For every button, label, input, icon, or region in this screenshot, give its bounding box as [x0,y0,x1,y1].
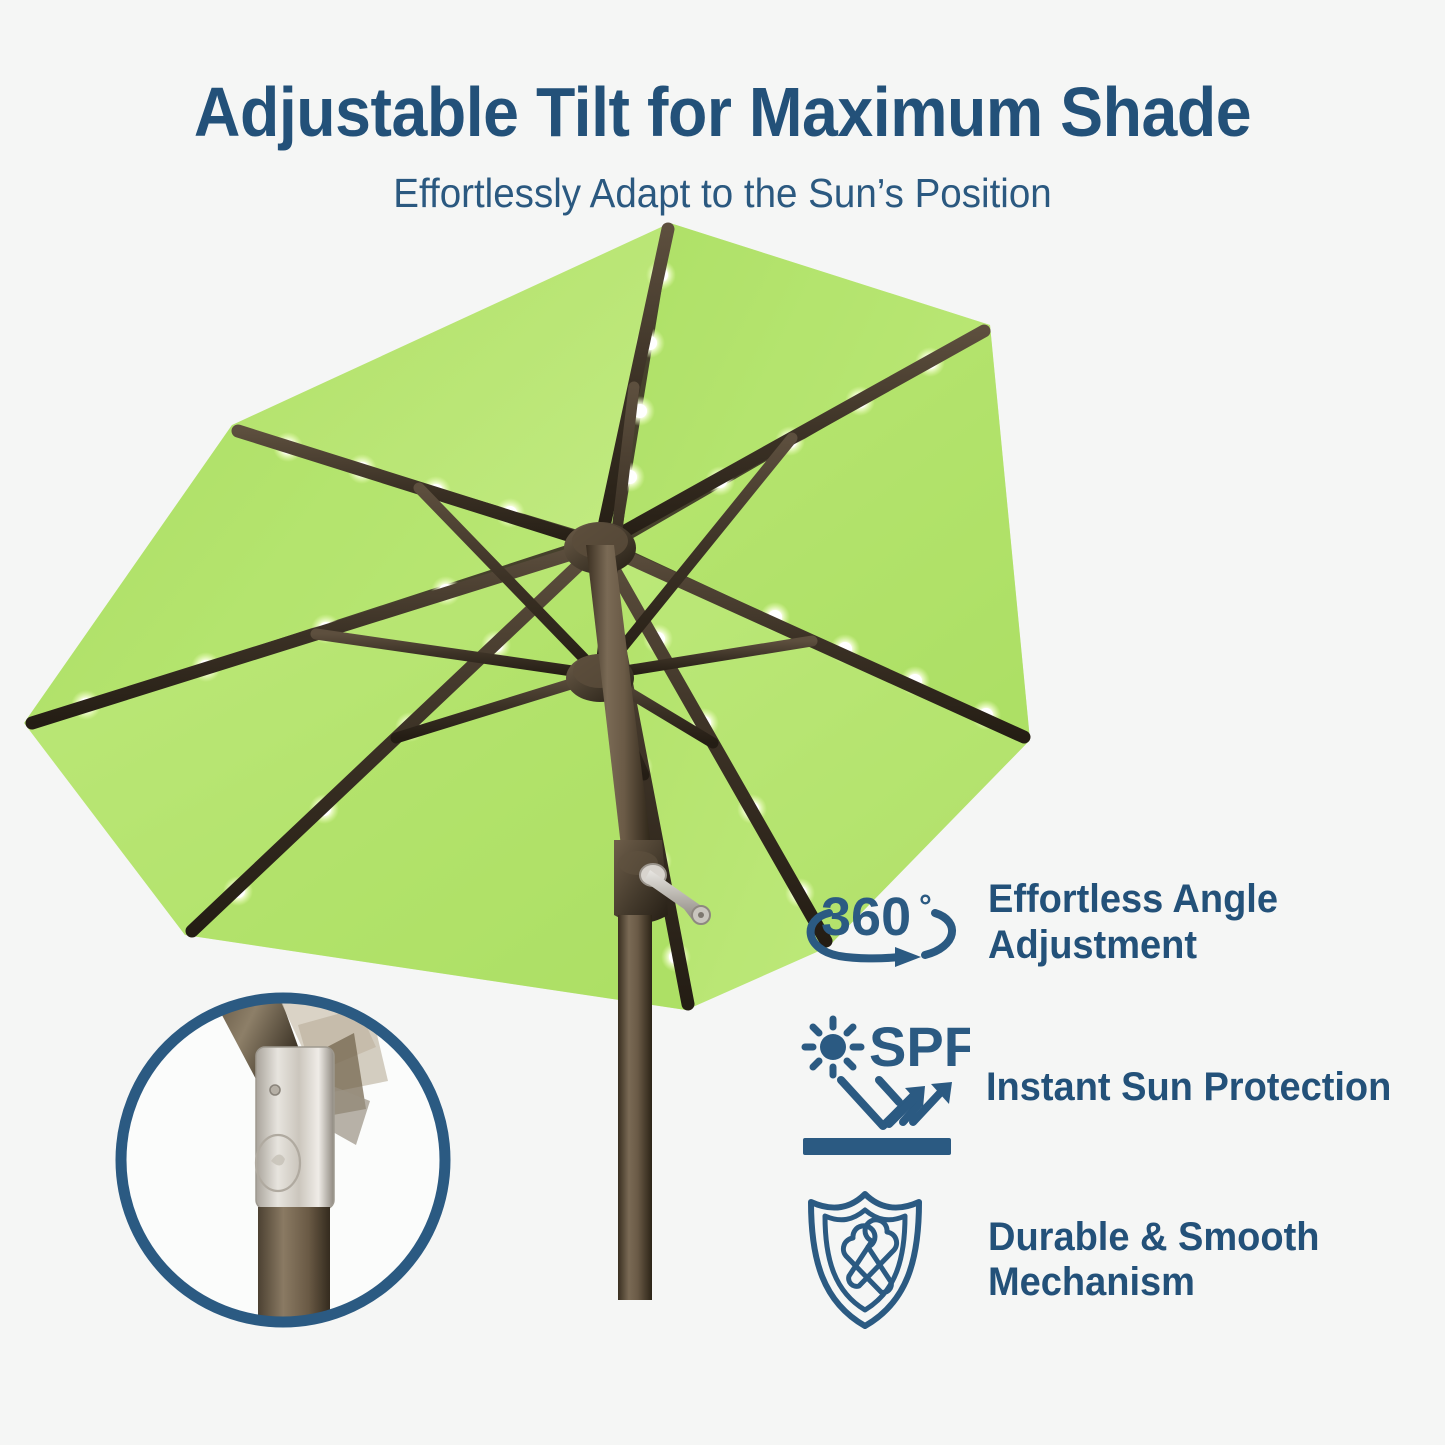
feature-row-instant-sun-protection: SPF [795,1000,1440,1175]
inset-photo [108,985,458,1335]
360-icon-text: 360 [821,887,911,947]
sun-icon [805,1019,861,1075]
feature-label-line1: Effortless Angle [988,877,1278,922]
feature-label-durable-smooth-mechanism: Durable & Smooth Mechanism [988,1215,1319,1305]
infographic-canvas: Adjustable Tilt for Maximum Shade Effort… [0,0,1445,1445]
feature-label-effortless-angle-adjustment: Effortless Angle Adjustment [988,877,1278,967]
feature-label-line2: Mechanism [988,1260,1319,1305]
shield-wrench-icon [795,1190,970,1330]
reflection-arrows [841,1080,941,1126]
spf-icon-text: SPF [869,1015,970,1078]
surface-bar [803,1138,951,1155]
feature-row-effortless-angle-adjustment: 360 ° Effortless Angle Adjustment [795,855,1440,990]
page-subtitle: Effortlessly Adapt to the Sun’s Position [43,152,1401,217]
feature-row-durable-smooth-mechanism: Durable & Smooth Mechanism [795,1185,1440,1335]
header: Adjustable Tilt for Maximum Shade Effort… [0,0,1445,217]
feature-label-instant-sun-protection: Instant Sun Protection [986,1065,1391,1110]
page-title: Adjustable Tilt for Maximum Shade [58,0,1387,152]
spf-sun-protection-icon: SPF [795,1014,970,1162]
degree-symbol: ° [919,888,932,924]
feature-label-line2: Adjustment [988,923,1278,968]
feature-label-line1: Instant Sun Protection [986,1065,1391,1110]
feature-label-line1: Durable & Smooth [988,1215,1319,1260]
360-degree-rotation-icon: 360 ° [795,873,970,973]
feature-list: 360 ° Effortless Angle Adjustment [795,855,1440,1345]
wrench-icons [843,1220,896,1293]
tilt-mechanism-inset [108,985,458,1335]
